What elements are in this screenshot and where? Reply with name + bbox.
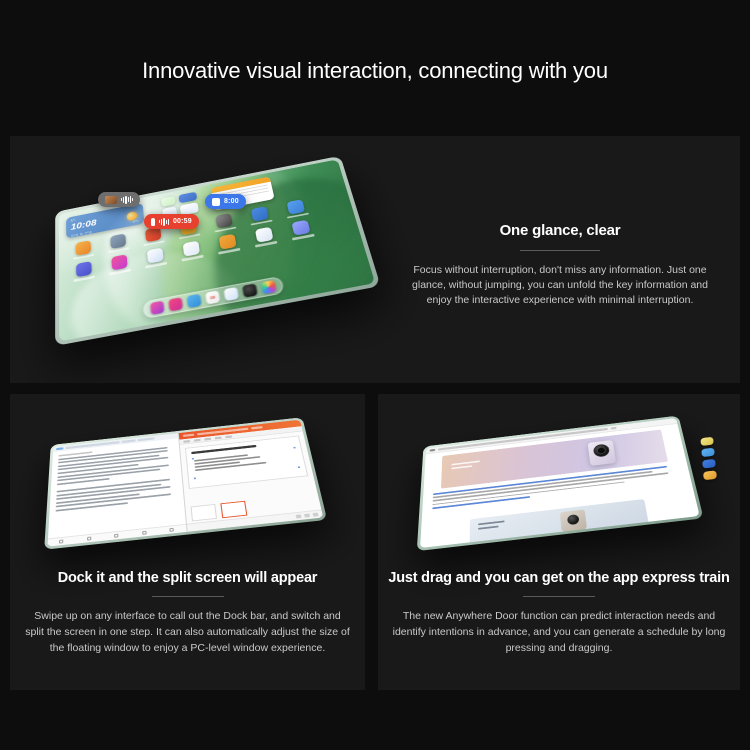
product-card-text xyxy=(478,520,505,531)
group-cell-contacts-icon[interactable] xyxy=(161,196,176,207)
tablet-home-illustration: 天气 10:08 北京市 · 晴 · 空气优 22°C xyxy=(50,166,380,356)
capsule-media-playing[interactable] xyxy=(98,192,140,207)
camera-module-icon xyxy=(593,443,610,457)
dock-icon-calendar[interactable]: 15 xyxy=(205,290,220,304)
tablet-screen xyxy=(47,420,323,547)
dock-split-body: Swipe up on any interface to call out th… xyxy=(24,608,351,656)
presentation-slide-canvas[interactable] xyxy=(185,436,309,489)
slide-thumbnail-selected[interactable] xyxy=(220,501,247,518)
album-art-icon xyxy=(105,196,117,204)
product-card-image xyxy=(560,509,587,531)
app-icon-wallet[interactable] xyxy=(65,238,100,261)
anywhere-door-headline: Just drag and you can get on the app exp… xyxy=(386,570,732,586)
dock-split-headline: Dock it and the split screen will appear xyxy=(24,570,351,586)
float-icon-notes[interactable] xyxy=(700,437,713,446)
split-pane-document[interactable] xyxy=(47,433,187,547)
capsule-voice-recording[interactable]: 00:59 xyxy=(144,214,199,229)
divider xyxy=(523,596,595,597)
feature-panel-dock-split-screen: Dock it and the split screen will appear… xyxy=(10,394,365,690)
feature-panel-one-glance: 天气 10:08 北京市 · 晴 · 空气优 22°C xyxy=(10,136,740,383)
slide-title xyxy=(191,445,257,455)
selection-handle[interactable] xyxy=(293,447,295,449)
dock-icon-gallery[interactable] xyxy=(261,280,277,294)
play-icon[interactable] xyxy=(296,514,302,518)
back-icon[interactable] xyxy=(56,447,64,450)
float-icon-messages[interactable] xyxy=(702,459,716,469)
insert-icon[interactable] xyxy=(183,440,190,443)
capsule-alarm[interactable]: 8:00 xyxy=(205,194,246,209)
capsule-alarm-label: 8:00 xyxy=(224,198,239,205)
tablet-device: 天气 10:08 北京市 · 晴 · 空气优 22°C xyxy=(55,156,381,346)
anywhere-door-floating-dock[interactable] xyxy=(700,437,717,481)
share-icon[interactable] xyxy=(251,426,263,430)
dock-split-copy: Dock it and the split screen will appear… xyxy=(24,570,351,656)
divider xyxy=(152,596,224,597)
audio-wave-icon xyxy=(159,218,169,226)
app-icon-settings[interactable] xyxy=(100,232,136,255)
float-icon-browser[interactable] xyxy=(701,448,715,457)
one-glance-copy: One glance, clear Focus without interrup… xyxy=(400,222,720,308)
dock-icon-books[interactable] xyxy=(187,294,202,308)
audio-wave-icon xyxy=(121,196,133,204)
phone-product-image xyxy=(588,440,617,466)
anywhere-door-body: The new Anywhere Door function can predi… xyxy=(386,608,732,656)
one-glance-headline: One glance, clear xyxy=(400,222,720,239)
tablet-device xyxy=(417,416,704,552)
capsule-recording-timer: 00:59 xyxy=(173,218,192,225)
image-icon[interactable] xyxy=(214,436,221,439)
text-icon[interactable] xyxy=(193,438,200,441)
dock-icon-messages[interactable] xyxy=(224,287,239,301)
alarm-icon xyxy=(212,198,220,206)
slide-thumbnail[interactable] xyxy=(190,504,216,521)
window-icon[interactable] xyxy=(142,531,146,535)
tablet-screen: 天气 10:08 北京市 · 晴 · 空气优 22°C xyxy=(59,159,375,341)
article-product-card[interactable] xyxy=(470,499,649,542)
back-icon[interactable] xyxy=(430,449,436,452)
anywhere-door-copy: Just drag and you can get on the app exp… xyxy=(386,570,732,656)
layout-icon[interactable] xyxy=(304,513,310,517)
one-glance-body: Focus without interruption, don't miss a… xyxy=(400,263,720,308)
menu-icon[interactable] xyxy=(59,540,63,544)
feature-panel-anywhere-door: Just drag and you can get on the app exp… xyxy=(378,394,740,690)
search-icon[interactable] xyxy=(87,537,91,541)
divider xyxy=(520,250,600,251)
edit-icon[interactable] xyxy=(170,528,174,532)
selection-handle[interactable] xyxy=(191,458,193,460)
dock-icon-camera[interactable] xyxy=(242,283,258,297)
float-icon-calendar[interactable] xyxy=(703,470,717,480)
tablet-browser-illustration xyxy=(418,416,713,566)
document-text xyxy=(50,438,184,512)
dock-icon-video[interactable] xyxy=(150,301,164,315)
selection-handle[interactable] xyxy=(298,466,300,468)
selection-handle[interactable] xyxy=(193,478,195,480)
page-title: Innovative visual interaction, connectin… xyxy=(0,58,750,84)
dock-icon-music[interactable] xyxy=(168,297,183,311)
more-icon[interactable] xyxy=(225,435,232,438)
product-feature-page: Innovative visual interaction, connectin… xyxy=(0,0,750,750)
app-logo-icon xyxy=(182,433,194,437)
shape-icon[interactable] xyxy=(204,437,211,440)
document-bottom-toolbar[interactable] xyxy=(47,524,186,547)
microphone-icon xyxy=(151,218,155,226)
bookmark-icon[interactable] xyxy=(114,534,118,538)
split-pane-presentation[interactable] xyxy=(178,420,323,532)
settings-icon[interactable] xyxy=(312,513,318,517)
tablet-screen xyxy=(420,418,700,548)
tablet-device xyxy=(44,417,327,549)
tablet-split-screen-illustration xyxy=(46,416,336,566)
hero-heading-lines xyxy=(451,461,480,472)
close-icon[interactable] xyxy=(610,427,616,430)
